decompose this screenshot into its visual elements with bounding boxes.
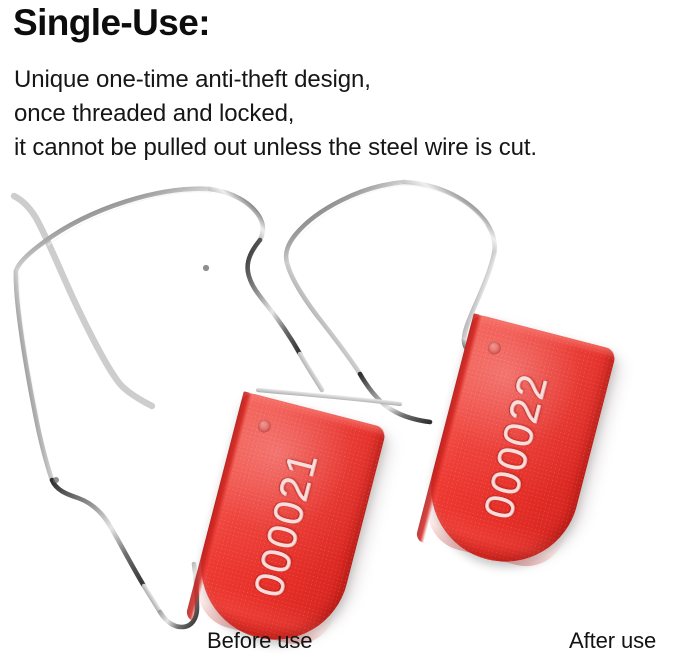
- caption-before-use: Before use: [207, 628, 312, 654]
- wire-entry-nub: [486, 340, 502, 356]
- page-title: Single-Use:: [13, 2, 210, 43]
- product-photo: 000021 000022: [0, 168, 679, 638]
- description-line-1: Unique one-time anti-theft design,: [14, 63, 537, 97]
- product-feature-image: Single-Use: Unique one-time anti-theft d…: [0, 0, 679, 657]
- wire-crimp-marker-2: [53, 477, 59, 483]
- seal-serial-number-before: 000021: [245, 446, 328, 602]
- wire-crimp-marker: [203, 265, 209, 271]
- wire-entry-nub: [256, 418, 272, 434]
- description-line-3: it cannot be pulled out unless the steel…: [14, 131, 537, 165]
- description-text: Unique one-time anti-theft design, once …: [14, 63, 537, 165]
- caption-after-use: After use: [569, 628, 656, 654]
- seal-serial-number-after: 000022: [475, 368, 558, 524]
- description-line-2: once threaded and locked,: [14, 97, 537, 131]
